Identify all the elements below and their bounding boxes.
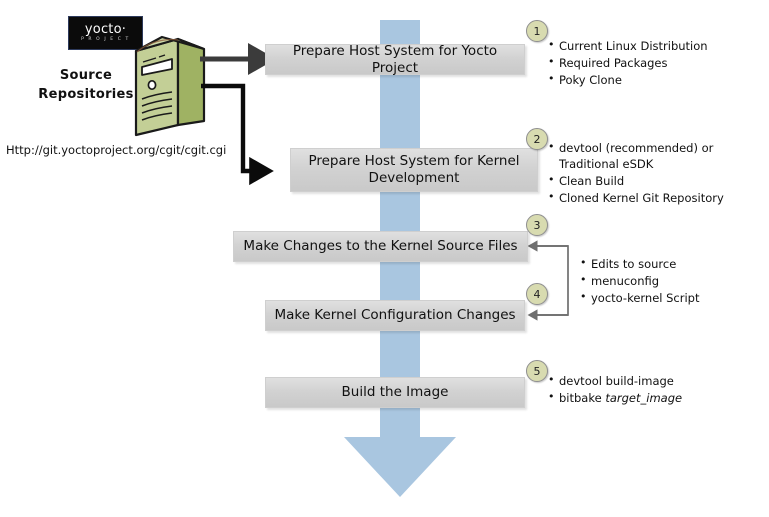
bullet-item: Poky Clone	[548, 72, 763, 88]
process-box-label-line-2: Development	[369, 170, 460, 186]
bullet-item: devtool (recommended) or Traditional eSD…	[548, 140, 763, 172]
process-box-label-line-1: Prepare Host System for Kernel	[308, 153, 519, 169]
process-box-label: Build the Image	[342, 384, 449, 401]
step-1-bullet-list: Current Linux Distribution Required Pack…	[548, 38, 763, 89]
source-repositories-line-1: Source	[30, 66, 142, 85]
bullet-item-line-1: devtool (recommended) or	[559, 141, 713, 155]
source-repositories-line-2: Repositories	[30, 85, 142, 104]
diagram-canvas: yocto· P R O J E C T Source Repositories…	[0, 0, 769, 517]
step-badge-number: 4	[534, 288, 541, 301]
process-box-build-the-image[interactable]: Build the Image	[265, 377, 525, 408]
bullet-item-variable: target_image	[605, 391, 682, 405]
step-badge-number: 2	[534, 133, 541, 146]
process-box-prepare-host-kernel[interactable]: Prepare Host System for Kernel Developme…	[290, 148, 538, 192]
bullet-item: Required Packages	[548, 55, 763, 71]
process-box-label: Prepare Host System for Kernel Developme…	[308, 153, 519, 187]
step-badge-number: 3	[534, 219, 541, 232]
process-box-label: Make Kernel Configuration Changes	[274, 307, 515, 324]
server-tower-icon	[132, 25, 208, 137]
bullet-item: Cloned Kernel Git Repository	[548, 190, 763, 206]
process-box-make-kernel-config-changes[interactable]: Make Kernel Configuration Changes	[265, 300, 525, 331]
bullet-item-command: bitbake	[559, 391, 605, 405]
bullet-item: bitbake target_image	[548, 390, 763, 406]
step-badge-number: 1	[534, 25, 541, 38]
process-box-prepare-host-yocto[interactable]: Prepare Host System for Yocto Project	[265, 44, 525, 75]
process-box-label: Prepare Host System for Yocto Project	[274, 43, 516, 77]
step-badge-number: 5	[534, 365, 541, 378]
bullet-item-line-2: Traditional eSDK	[559, 157, 653, 171]
source-repositories-label: Source Repositories	[30, 66, 142, 104]
repository-url: Http://git.yoctoproject.org/cgit/cgit.cg…	[6, 143, 226, 157]
bullet-item: yocto-kernel Script	[580, 290, 760, 306]
step-badge-2: 2	[526, 128, 548, 150]
step-badge-4: 4	[526, 283, 548, 305]
process-box-label: Make Changes to the Kernel Source Files	[243, 238, 517, 255]
logo-wordmark: yocto·	[85, 23, 126, 36]
bullet-item: devtool build-image	[548, 373, 763, 389]
step-5-bullet-list: devtool build-image bitbake target_image	[548, 373, 763, 407]
bullet-item: Edits to source	[580, 256, 760, 272]
step-2-bullet-list: devtool (recommended) or Traditional eSD…	[548, 140, 763, 207]
bullet-item: menuconfig	[580, 273, 760, 289]
step-badge-5: 5	[526, 360, 548, 382]
bullet-item: Clean Build	[548, 173, 763, 189]
logo-subtext: P R O J E C T	[81, 38, 130, 43]
process-box-make-changes-kernel-source[interactable]: Make Changes to the Kernel Source Files	[233, 231, 528, 262]
bullet-item: Current Linux Distribution	[548, 38, 763, 54]
steps-3-4-shared-bullet-list: Edits to source menuconfig yocto-kernel …	[580, 256, 760, 307]
step-badge-3: 3	[526, 214, 548, 236]
step-badge-1: 1	[526, 20, 548, 42]
